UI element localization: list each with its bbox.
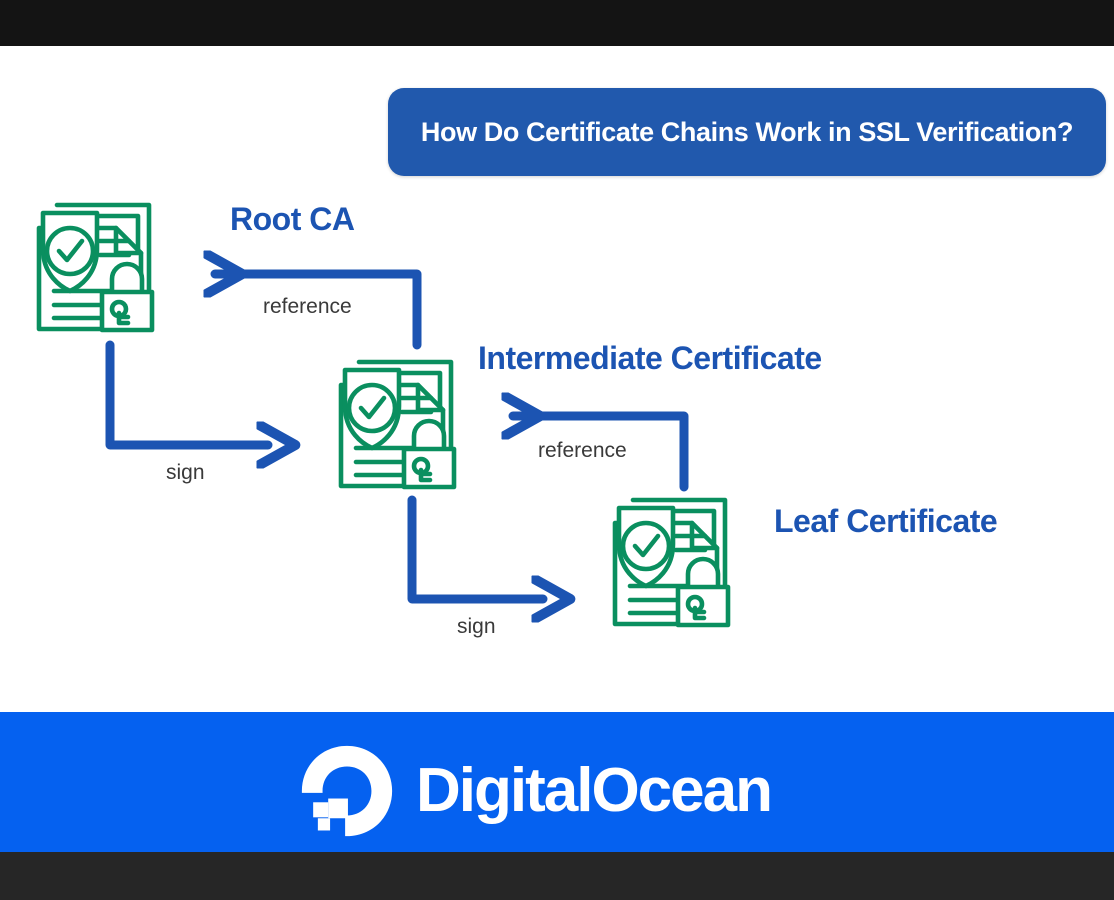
digitalocean-wordmark: DigitalOcean bbox=[416, 760, 771, 822]
edge-label-reference-root: reference bbox=[263, 295, 352, 319]
page-title: How Do Certificate Chains Work in SSL Ve… bbox=[421, 117, 1073, 148]
edge-label-sign-leaf: sign bbox=[457, 615, 496, 639]
edge-label-sign-intermediate: sign bbox=[166, 461, 205, 485]
certificate-icon-intermediate bbox=[332, 340, 478, 497]
bottom-letterbox-bar bbox=[0, 852, 1114, 900]
node-label-leaf: Leaf Certificate bbox=[774, 503, 997, 540]
infographic-canvas: How Do Certificate Chains Work in SSL Ve… bbox=[0, 0, 1114, 900]
edge-label-reference-intermediate: reference bbox=[538, 439, 627, 463]
title-banner: How Do Certificate Chains Work in SSL Ve… bbox=[388, 88, 1106, 176]
node-label-intermediate: Intermediate Certificate bbox=[478, 340, 822, 377]
certificate-icon-leaf bbox=[606, 478, 752, 635]
top-letterbox-bar bbox=[0, 0, 1114, 46]
digitalocean-logo-mark bbox=[300, 744, 394, 838]
node-label-root: Root CA bbox=[230, 201, 354, 238]
certificate-icon-root bbox=[30, 183, 176, 340]
digitalocean-logo: DigitalOcean bbox=[300, 744, 771, 838]
